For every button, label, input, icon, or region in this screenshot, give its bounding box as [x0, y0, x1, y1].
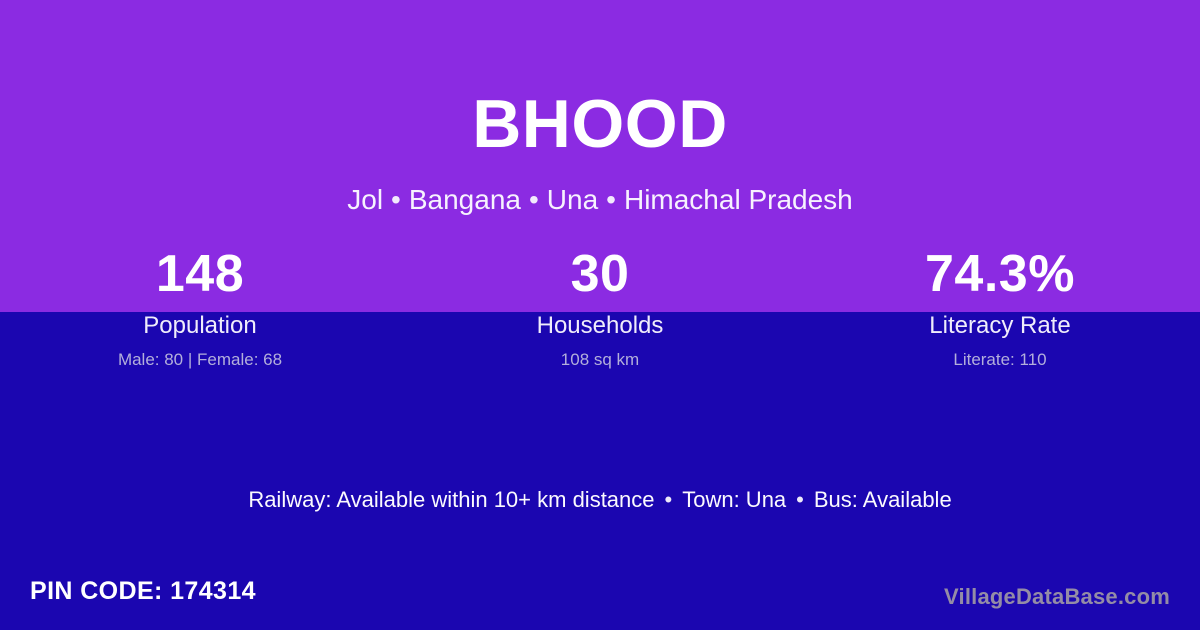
page-title: BHOOD — [0, 82, 1200, 166]
stat-sublabel: 108 sq km — [400, 349, 800, 371]
stat-literacy-rate: 74.3% Literacy Rate Literate: 110 — [800, 243, 1200, 371]
breadcrumb-block: Bangana — [409, 184, 521, 215]
breadcrumb-district: Una — [547, 184, 598, 215]
stat-label: Population — [0, 311, 400, 341]
breadcrumb-separator-1: • — [383, 182, 409, 218]
stat-population: 148 Population Male: 80 | Female: 68 — [0, 243, 400, 371]
stat-label: Households — [400, 311, 800, 341]
stat-value: 148 — [0, 243, 400, 305]
amenity-bus: Bus: Available — [814, 487, 952, 512]
stat-sublabel: Literate: 110 — [800, 349, 1200, 371]
pin-code: PIN CODE: 174314 — [30, 575, 256, 607]
amenity-separator-1: • — [655, 485, 683, 515]
breadcrumb: Jol•Bangana•Una•Himachal Pradesh — [0, 182, 1200, 218]
breadcrumb-separator-2: • — [521, 182, 547, 218]
amenity-town: Town: Una — [682, 487, 786, 512]
stat-sublabel: Male: 80 | Female: 68 — [0, 349, 400, 371]
stat-value: 74.3% — [800, 243, 1200, 305]
stat-value: 30 — [400, 243, 800, 305]
breadcrumb-state: Himachal Pradesh — [624, 184, 853, 215]
brand-watermark: VillageDataBase.com — [944, 583, 1170, 611]
amenities-line: Railway: Available within 10+ km distanc… — [0, 485, 1200, 515]
stat-households: 30 Households 108 sq km — [400, 243, 800, 371]
breadcrumb-panchayat: Jol — [347, 184, 383, 215]
amenity-separator-2: • — [786, 485, 814, 515]
stats-row: 148 Population Male: 80 | Female: 68 30 … — [0, 243, 1200, 371]
stat-label: Literacy Rate — [800, 311, 1200, 341]
village-info-card: BHOOD Jol•Bangana•Una•Himachal Pradesh 1… — [0, 0, 1200, 630]
breadcrumb-separator-3: • — [598, 182, 624, 218]
amenity-railway: Railway: Available within 10+ km distanc… — [248, 487, 654, 512]
